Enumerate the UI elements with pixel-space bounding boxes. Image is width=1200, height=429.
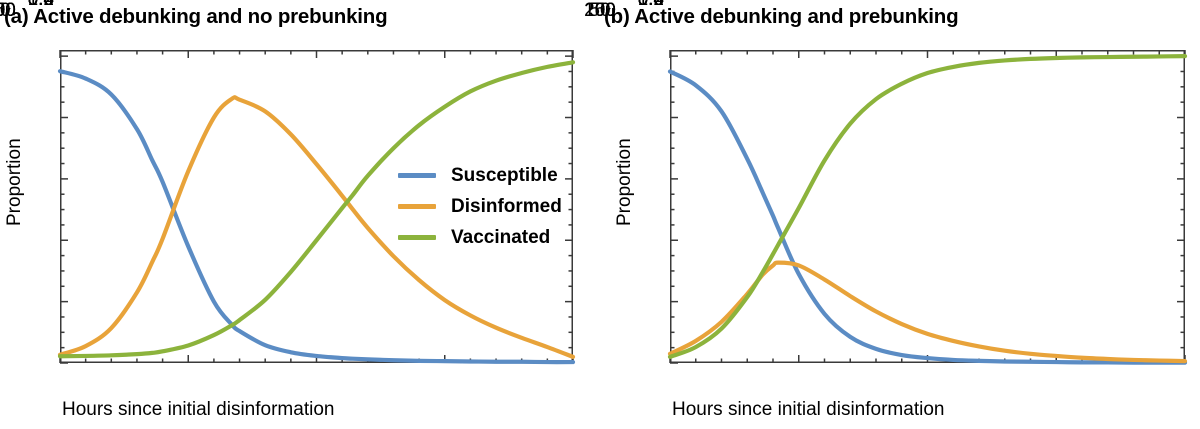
legend-item-disinformed[interactable]: Disinformed: [398, 191, 562, 222]
chart-panel-a: (a) Active debunking and no prebunking P…: [0, 0, 600, 429]
legend-item-susceptible[interactable]: Susceptible: [398, 160, 562, 191]
panel-a-title: (a) Active debunking and no prebunking: [4, 5, 387, 29]
panel-b-plot-svg: [670, 50, 1185, 363]
panel-b-plot-area: [670, 50, 1185, 363]
legend-swatch-disinformed: [398, 204, 436, 209]
panel-a-y-axis-label: Proportion: [4, 138, 26, 226]
legend-swatch-vaccinated: [398, 235, 436, 240]
figure-root: (a) Active debunking and no prebunking P…: [0, 0, 1200, 429]
x-tick-label: 200: [584, 0, 616, 22]
legend-item-vaccinated[interactable]: Vaccinated: [398, 222, 562, 253]
legend-label-susceptible: Susceptible: [451, 165, 558, 187]
panel-b-x-axis-label: Hours since initial disinformation: [672, 399, 944, 421]
chart-panel-b: (b) Active debunking and prebunking Prop…: [600, 0, 1200, 429]
panel-b-y-axis-label: Proportion: [614, 138, 636, 226]
legend-swatch-susceptible: [398, 173, 436, 178]
legend-label-disinformed: Disinformed: [451, 196, 562, 218]
x-tick-label: 200: [0, 0, 16, 22]
legend-label-vaccinated: Vaccinated: [451, 227, 550, 249]
panel-a-legend: Susceptible Disinformed Vaccinated: [398, 160, 562, 253]
panel-a-x-axis-label: Hours since initial disinformation: [62, 399, 334, 421]
